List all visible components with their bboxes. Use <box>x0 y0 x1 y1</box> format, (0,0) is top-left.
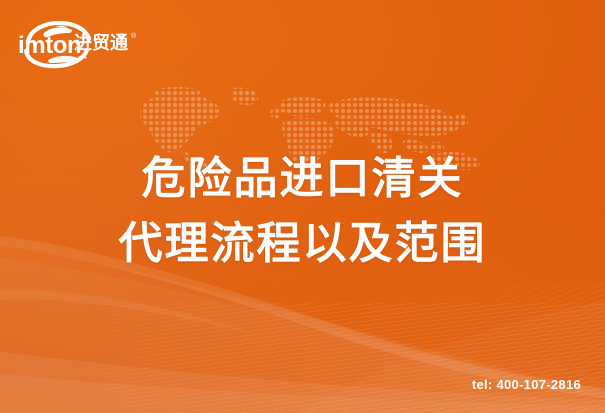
logo-chinese-name: 进贸通 <box>74 35 128 53</box>
contact-phone[interactable]: tel: 400-107-2816 <box>472 377 581 392</box>
registered-trademark-icon: ® <box>131 33 136 40</box>
promo-poster: imton 进贸通 ® 危险品进口清关 代理流程以及范围 tel: 400-10… <box>0 0 605 413</box>
page-title-line-1: 危险品进口清关 <box>0 146 605 211</box>
page-title: 危险品进口清关 代理流程以及范围 <box>0 146 605 276</box>
logo-wordmark: imton <box>18 34 81 58</box>
brand-logo[interactable]: imton 进贸通 ® <box>14 21 139 69</box>
page-title-line-2: 代理流程以及范围 <box>0 211 605 276</box>
